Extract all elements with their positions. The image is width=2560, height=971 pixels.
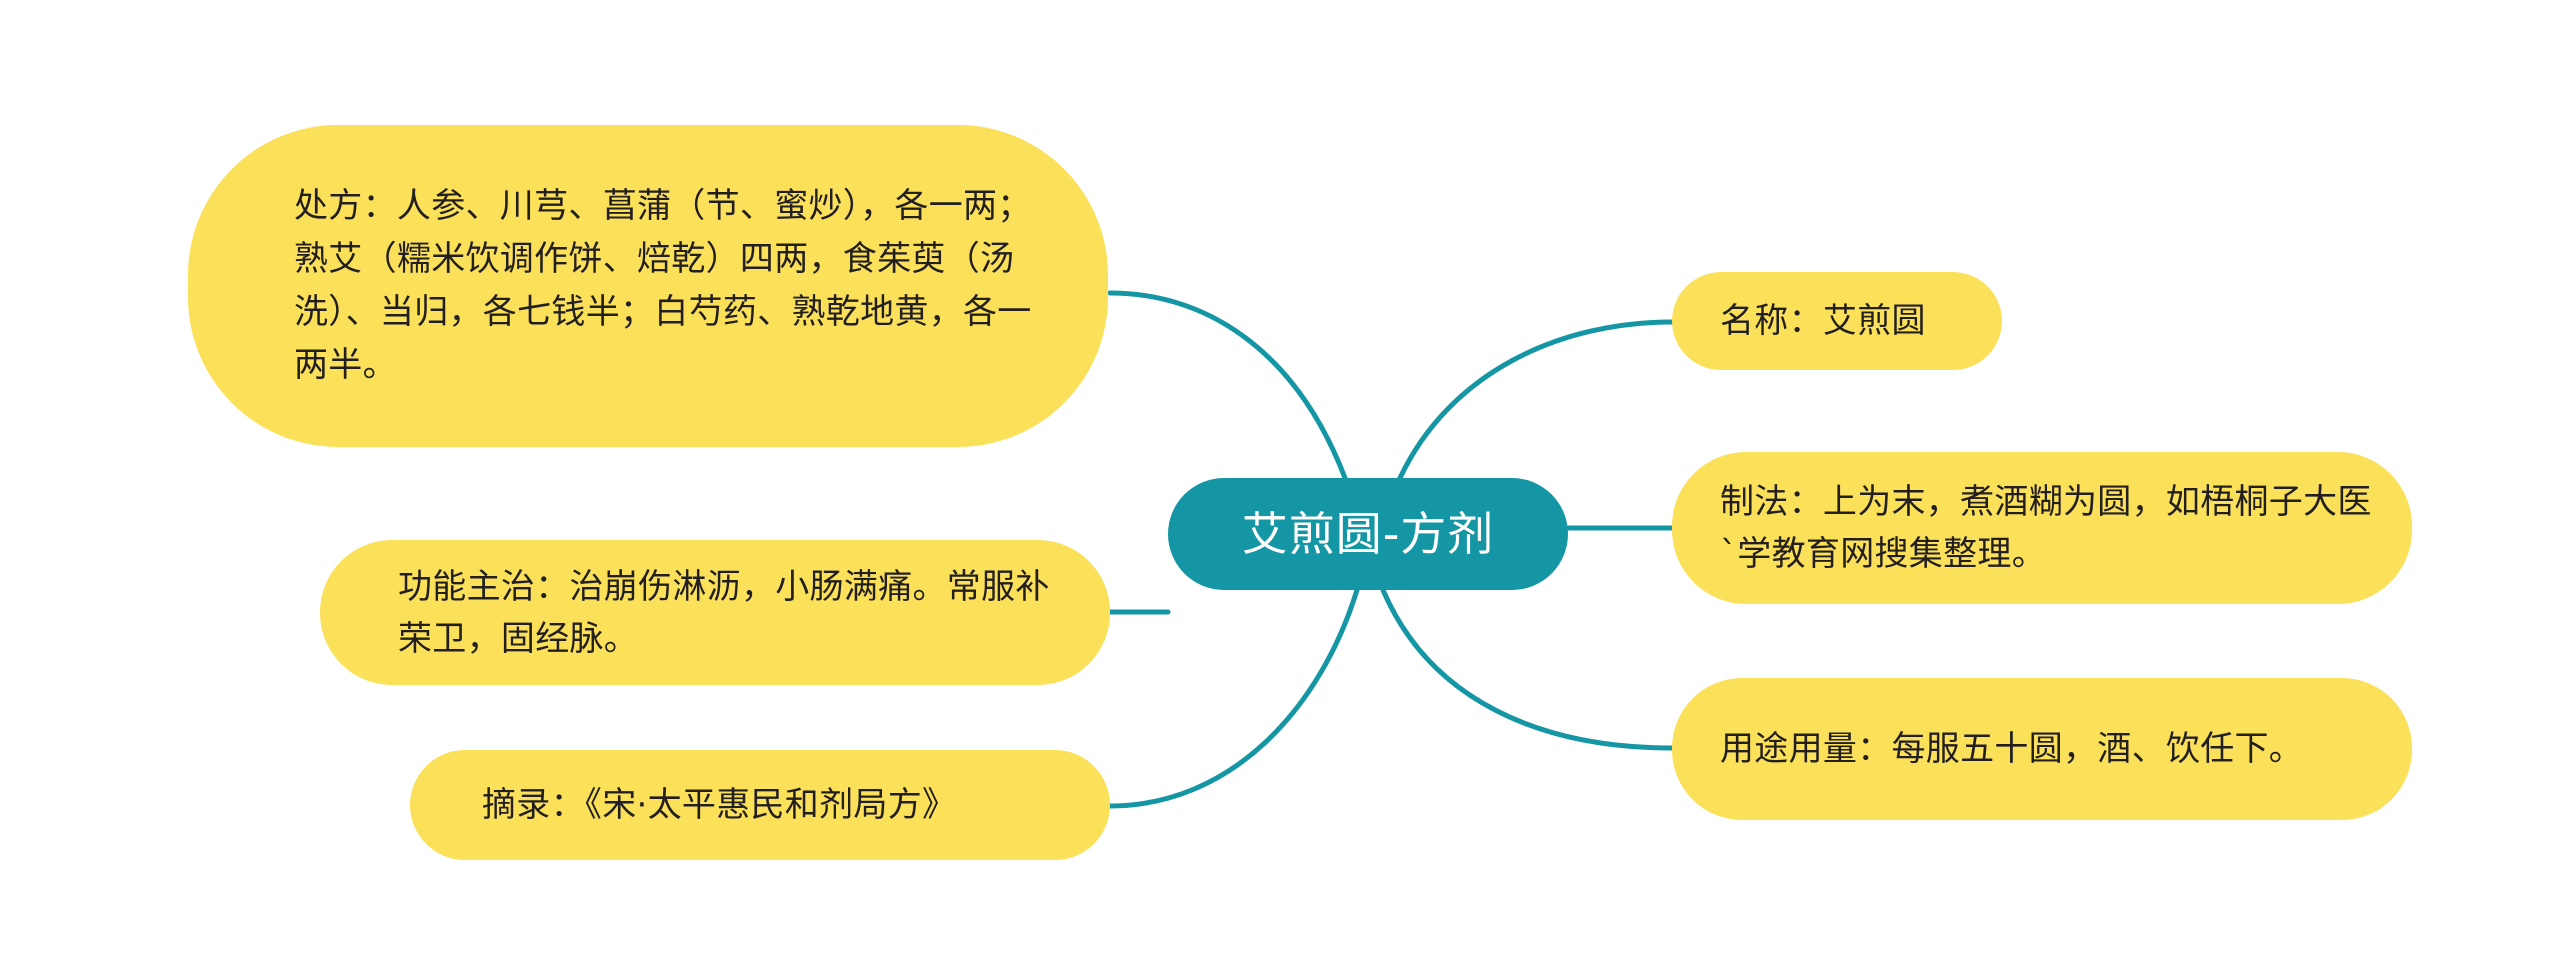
topic-dosage[interactable]: 用途用量：每服五十圆，酒、饮任下。 [1672, 678, 2412, 820]
topic-prescription-label: 处方：人参、川芎、菖蒲（节、蜜炒），各一两；熟艾（糯米饮调作饼、焙乾）四两，食茱… [294, 180, 1044, 392]
root-node[interactable]: 艾煎圆-方剂 [1168, 478, 1568, 590]
connector-prescription [1110, 293, 1345, 478]
topic-dosage-label: 用途用量：每服五十圆，酒、饮任下。 [1720, 723, 2303, 775]
topic-method[interactable]: 制法：上为末，煮酒糊为圆，如梧桐子大医`学教育网搜集整理。 [1672, 452, 2412, 604]
topic-indication[interactable]: 功能主治：治崩伤淋沥，小肠满痛。常服补荣卫，固经脉。 [320, 540, 1110, 685]
connector-source [1110, 590, 1357, 806]
topic-name[interactable]: 名称：艾煎圆 [1672, 272, 2002, 370]
connector-dosage [1383, 590, 1672, 748]
root-node-label: 艾煎圆-方剂 [1242, 506, 1495, 562]
topic-method-label: 制法：上为末，煮酒糊为圆，如梧桐子大医`学教育网搜集整理。 [1720, 476, 2372, 580]
topic-source[interactable]: 摘录：《宋·太平惠民和剂局方》 [410, 750, 1110, 860]
mindmap-canvas: 处方：人参、川芎、菖蒲（节、蜜炒），各一两；熟艾（糯米饮调作饼、焙乾）四两，食茱… [0, 0, 2560, 971]
topic-prescription[interactable]: 处方：人参、川芎、菖蒲（节、蜜炒），各一两；熟艾（糯米饮调作饼、焙乾）四两，食茱… [188, 125, 1108, 447]
connector-name [1400, 322, 1672, 478]
topic-source-label: 摘录：《宋·太平惠民和剂局方》 [482, 779, 956, 831]
topic-indication-label: 功能主治：治崩伤淋沥，小肠满痛。常服补荣卫，固经脉。 [398, 561, 1060, 665]
topic-name-label: 名称：艾煎圆 [1720, 295, 1926, 347]
